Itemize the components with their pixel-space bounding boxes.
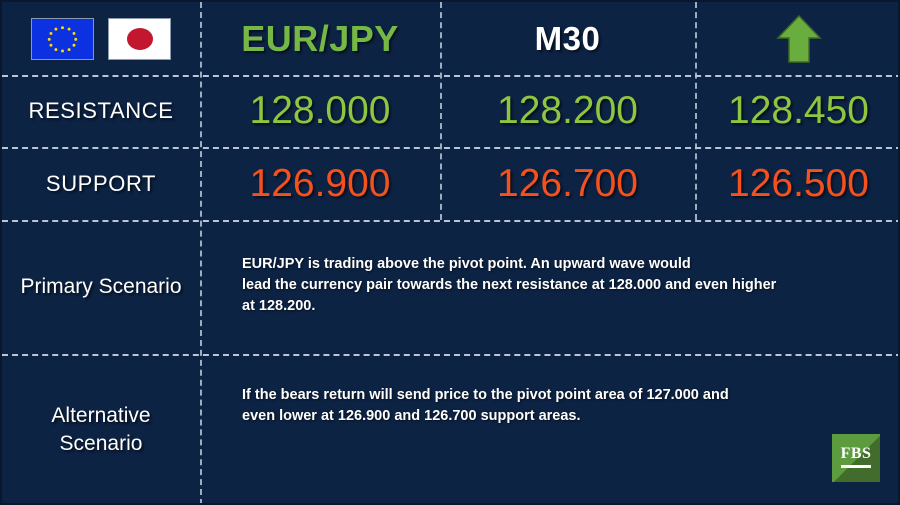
forex-signal-card: EUR/JPY M30 RESISTANCE 128.000 128.200 1… bbox=[0, 0, 900, 505]
resistance-label-cell: RESISTANCE bbox=[2, 75, 200, 147]
resistance-value-1-cell: 128.000 bbox=[200, 75, 440, 147]
fbs-logo-text: FBS bbox=[832, 445, 880, 463]
fbs-logo: FBS bbox=[832, 434, 880, 482]
arrow-up-icon bbox=[776, 14, 822, 64]
support-value-2: 126.700 bbox=[497, 162, 638, 206]
resistance-label: RESISTANCE bbox=[29, 97, 174, 125]
japan-flag bbox=[108, 18, 171, 60]
currency-flags bbox=[31, 18, 171, 60]
currency-pair-cell: EUR/JPY bbox=[200, 2, 440, 75]
flags-cell bbox=[2, 2, 200, 75]
currency-pair-title: EUR/JPY bbox=[241, 18, 399, 60]
resistance-value-1: 128.000 bbox=[250, 89, 391, 133]
support-label-cell: SUPPORT bbox=[2, 147, 200, 220]
alternative-scenario-label-cell: Alternative Scenario bbox=[2, 354, 200, 505]
support-value-2-cell: 126.700 bbox=[440, 147, 695, 220]
support-value-1-cell: 126.900 bbox=[200, 147, 440, 220]
trend-cell bbox=[695, 2, 900, 75]
support-value-3-cell: 126.500 bbox=[695, 147, 900, 220]
alternative-scenario-text: If the bears return will send price to t… bbox=[242, 385, 882, 427]
resistance-value-3: 128.450 bbox=[728, 89, 869, 133]
alternative-scenario-label: Alternative Scenario bbox=[51, 402, 150, 457]
japan-flag-sun bbox=[127, 28, 153, 50]
resistance-value-2-cell: 128.200 bbox=[440, 75, 695, 147]
support-label: SUPPORT bbox=[46, 170, 156, 198]
resistance-value-2: 128.200 bbox=[497, 89, 638, 133]
support-value-3: 126.500 bbox=[728, 162, 869, 206]
primary-scenario-label: Primary Scenario bbox=[20, 273, 181, 300]
resistance-value-3-cell: 128.450 bbox=[695, 75, 900, 147]
timeframe-label: M30 bbox=[535, 20, 601, 58]
european-union-flag bbox=[31, 18, 94, 60]
primary-scenario-label-cell: Primary Scenario bbox=[2, 220, 200, 354]
timeframe-cell: M30 bbox=[440, 2, 695, 75]
support-value-1: 126.900 bbox=[250, 162, 391, 206]
primary-scenario-text: EUR/JPY is trading above the pivot point… bbox=[242, 254, 882, 317]
fbs-logo-underline bbox=[841, 465, 871, 468]
